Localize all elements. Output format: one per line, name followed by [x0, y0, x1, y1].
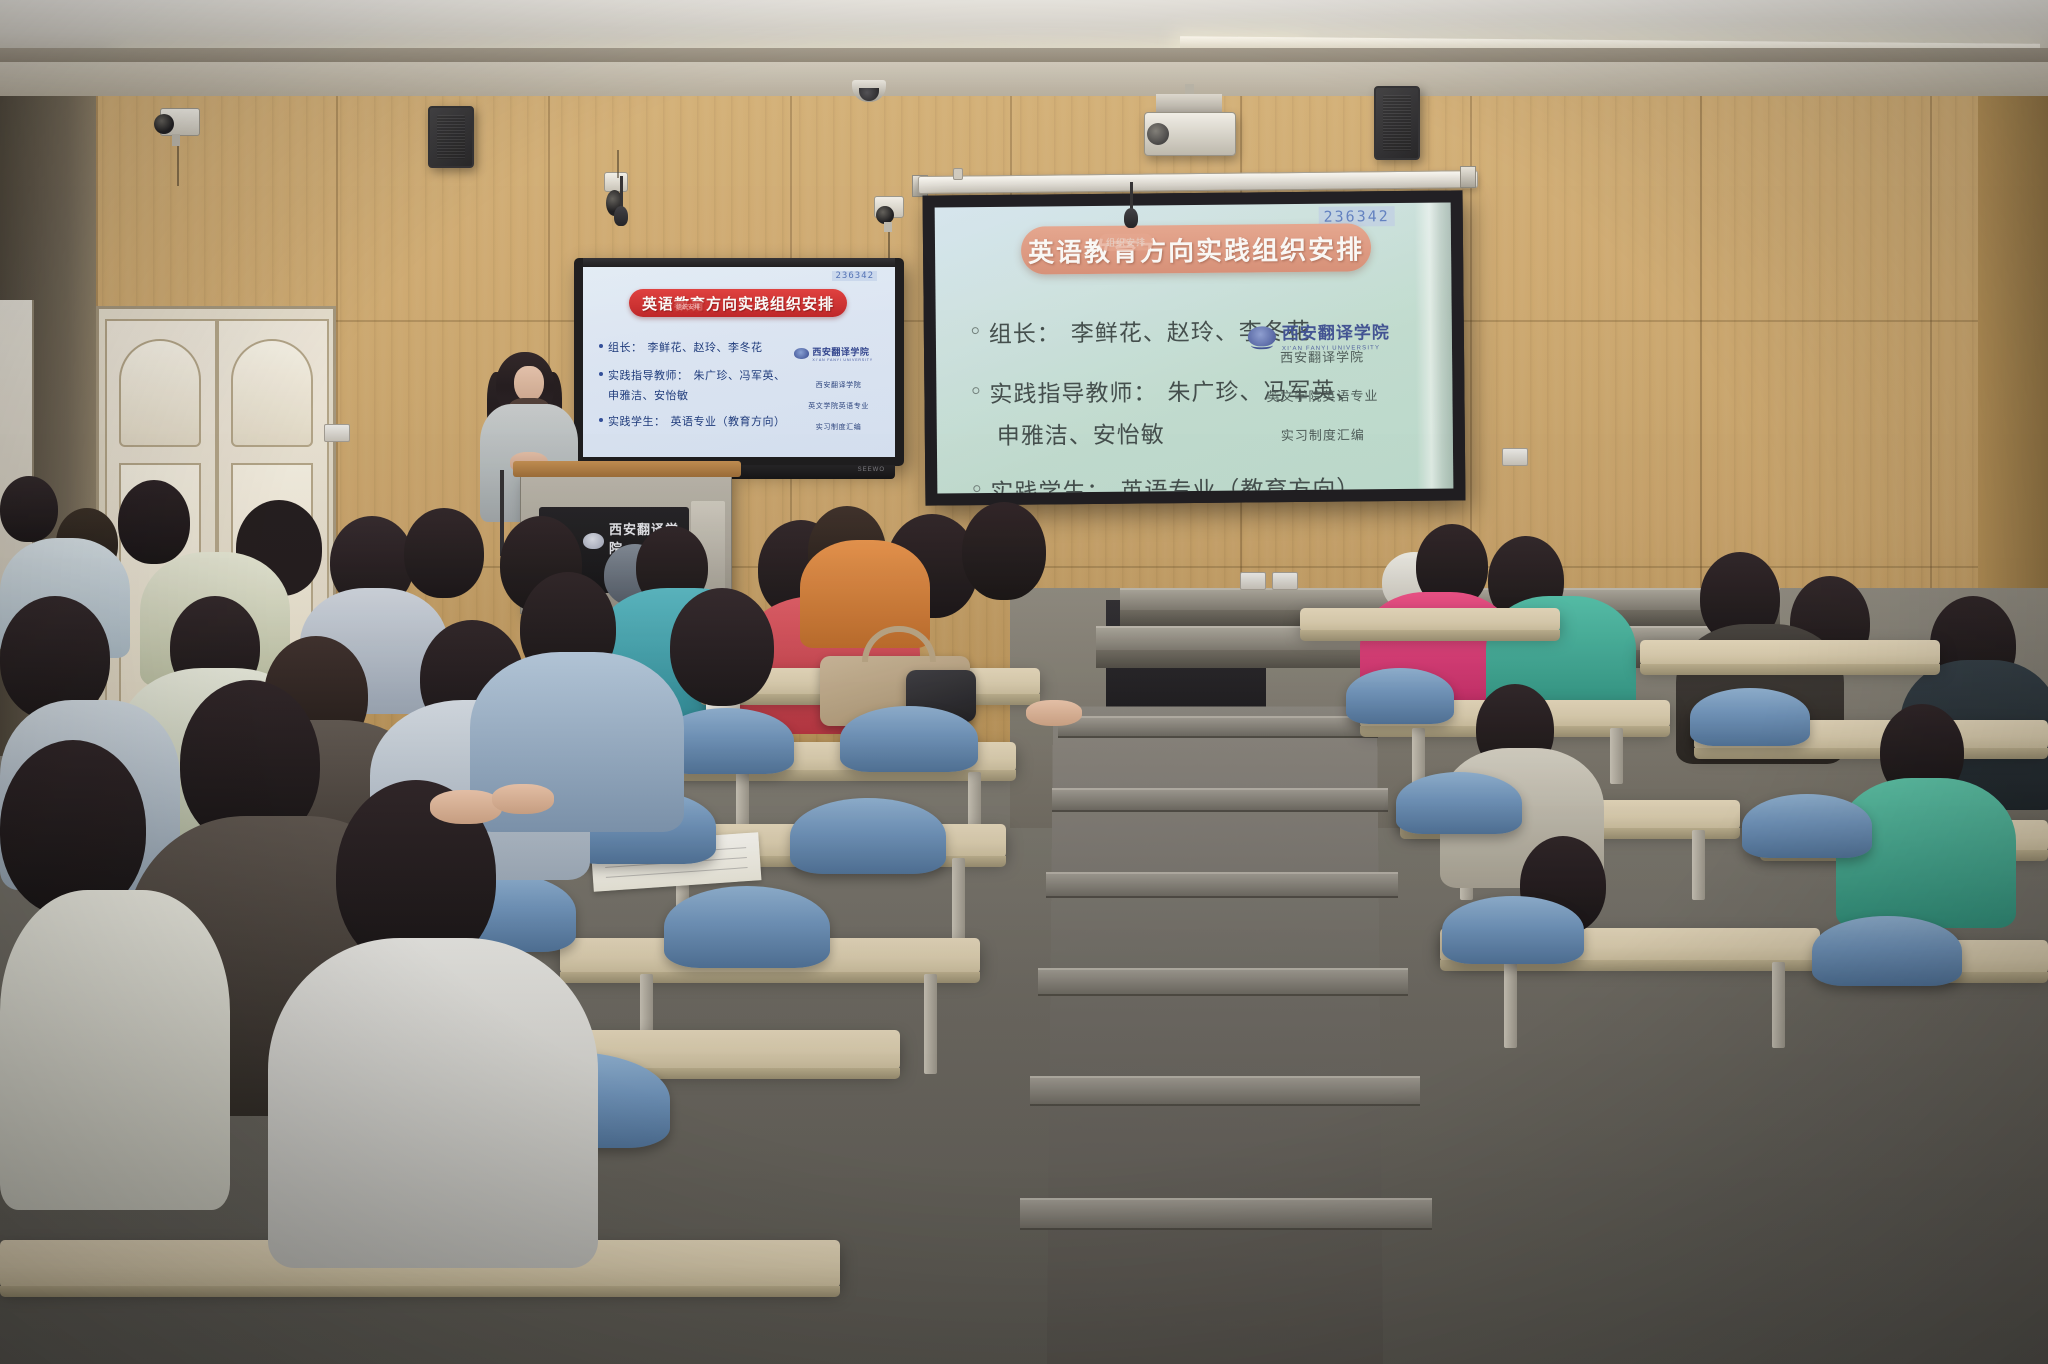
- bullet-dot-icon: [973, 485, 980, 492]
- camera-lens-icon: [154, 114, 174, 134]
- wall-socket[interactable]: [1272, 572, 1298, 590]
- hanging-microphone-icon: [614, 206, 628, 226]
- logo-name-en: XI'AN FANYI UNIVERSITY: [812, 358, 873, 362]
- lcd-footer-line: 英文学院英语专业: [808, 401, 869, 411]
- chair[interactable]: [1346, 668, 1454, 724]
- camera-mount: [172, 134, 180, 146]
- bullet-label: 组长：: [608, 339, 643, 355]
- chair[interactable]: [840, 706, 978, 772]
- camera-wire: [177, 146, 179, 186]
- chair[interactable]: [1396, 772, 1522, 834]
- presentation-slide-small: 236342 组织安排 英语教育方向实践组织安排 组长： 李鲜花、赵玲、李冬花 …: [583, 267, 895, 457]
- logo-name-cn: 西安翻译学院: [812, 345, 873, 358]
- wall-socket[interactable]: [1502, 448, 1528, 466]
- bullet-dot-icon: [972, 327, 979, 334]
- bullet-value: 朱广珍、冯军英、: [694, 367, 786, 383]
- bullet-dot-icon: [599, 372, 603, 376]
- bullet-dot-icon: [599, 344, 603, 348]
- door-arch-panel: [231, 339, 313, 447]
- chair[interactable]: [664, 886, 830, 968]
- aisle-step: [1052, 788, 1388, 812]
- lcd-slide-bullet-list: 组长： 李鲜花、赵玲、李冬花 实践指导教师： 朱广珍、冯军英、 申雅洁、安怡敏 …: [599, 339, 799, 441]
- desk-leg: [1504, 962, 1517, 1048]
- lcd-bullet-continuation: 申雅洁、安怡敏: [608, 387, 799, 403]
- camera-wire: [617, 150, 619, 178]
- bullet-dot-icon: [599, 418, 603, 422]
- student-hand: [1026, 700, 1082, 726]
- slide-footer-line: 英文学院英语专业: [1266, 385, 1378, 405]
- slide-title-badge: 组织安排: [1099, 233, 1153, 251]
- lcd-footer-line: 西安翻译学院: [808, 380, 869, 390]
- aisle-step: [1020, 1198, 1432, 1230]
- wall-lcd-display[interactable]: 236342 组织安排 英语教育方向实践组织安排 组长： 李鲜花、赵玲、李冬花 …: [574, 258, 904, 466]
- desk-leg: [1692, 830, 1705, 900]
- desk-leg: [924, 974, 937, 1074]
- lcd-slide-title-banner: 组织安排 英语教育方向实践组织安排: [629, 289, 847, 317]
- bullet-value: 英语专业（教育方向）: [671, 413, 786, 429]
- lectern-top: [513, 461, 741, 477]
- university-emblem-icon: [794, 348, 809, 359]
- aisle-step: [1046, 872, 1398, 898]
- lcd-bullet-item: 实践指导教师： 朱广珍、冯军英、: [599, 367, 799, 383]
- wall-speaker-right: [1374, 86, 1420, 160]
- projection-screen: 236342 组织安排 英语教育方向实践组织安排 组长： 李鲜花、赵玲、李冬花 …: [923, 190, 1466, 505]
- door-arch-panel: [119, 339, 201, 447]
- slide-footer-line: 西安翻译学院: [1266, 346, 1378, 366]
- slide-bullet-item: 实践学生： 英语专业（教育方向）: [973, 469, 1373, 493]
- chair[interactable]: [1742, 794, 1872, 858]
- student-body-foreground: [0, 890, 230, 1210]
- lcd-bullet-item: 组长： 李鲜花、赵玲、李冬花: [599, 339, 799, 355]
- aisle-step: [1058, 716, 1378, 738]
- lcd-bullet-item: 实践学生： 英语专业（教育方向）: [599, 413, 799, 429]
- university-emblem-icon: [1248, 326, 1276, 346]
- projector-mount: [1156, 94, 1222, 114]
- chair[interactable]: [1690, 688, 1810, 746]
- bullet-label: 实践学生：: [608, 413, 666, 429]
- slide-title-banner: 组织安排 英语教育方向实践组织安排: [1021, 223, 1371, 274]
- student-body-foreground: [268, 938, 598, 1268]
- desk: [1640, 640, 1940, 666]
- security-camera-icon: [604, 172, 628, 192]
- ceiling-projector: [1144, 112, 1236, 156]
- bullet-label: 实践指导教师：: [989, 373, 1157, 409]
- hanging-microphone-icon: [1124, 208, 1138, 228]
- slide-footer-line: 实习制度汇编: [1267, 424, 1379, 444]
- aisle-step: [1038, 968, 1408, 996]
- wall-socket[interactable]: [324, 424, 350, 442]
- lcd-slide-university-logo: 西安翻译学院 XI'AN FANYI UNIVERSITY: [794, 345, 873, 362]
- lcd-slide-footer: 西安翻译学院 英文学院英语专业 实习制度汇编: [808, 380, 869, 443]
- bullet-label: 组长：: [989, 314, 1061, 349]
- student-head: [670, 588, 774, 706]
- logo-name-cn: 西安翻译学院: [1282, 318, 1390, 344]
- lcd-top-bezel: [583, 258, 895, 267]
- bullet-dot-icon: [972, 387, 979, 394]
- wall-socket[interactable]: [1240, 572, 1266, 590]
- lcd-footer-line: 实习制度汇编: [808, 422, 869, 432]
- chair[interactable]: [1442, 896, 1584, 964]
- presenter-face: [514, 366, 544, 402]
- desk-leg: [1610, 728, 1623, 784]
- presentation-slide-large: 236342 组织安排 英语教育方向实践组织安排 组长： 李鲜花、赵玲、李冬花 …: [935, 203, 1454, 494]
- bullet-value: 李鲜花、赵玲、李冬花: [648, 339, 763, 355]
- lcd-brand-label: SEEWO: [858, 467, 885, 473]
- projector-lens-icon: [1147, 123, 1169, 145]
- chair[interactable]: [1812, 916, 1962, 986]
- student-head: [118, 480, 190, 564]
- university-emblem-icon: [583, 533, 604, 549]
- bullet-label: 实践学生：: [990, 472, 1110, 494]
- lcd-slide-title-badge: 组织安排: [671, 301, 705, 312]
- chair[interactable]: [790, 798, 946, 874]
- student-head: [962, 502, 1046, 600]
- slide-footer: 西安翻译学院 英文学院英语专业 实习制度汇编: [1266, 346, 1379, 464]
- wall-speaker-left: [428, 106, 474, 168]
- bullet-label: 实践指导教师：: [608, 367, 689, 383]
- desk: [1300, 608, 1560, 632]
- aisle-step: [1030, 1076, 1420, 1106]
- bullet-value: 英语专业（教育方向）: [1120, 469, 1360, 493]
- desk-leg: [1772, 962, 1785, 1048]
- camera-mount: [884, 222, 892, 232]
- hanging-microphone-cable: [620, 176, 623, 210]
- lecture-hall-photo: E CONTENT 236342: [0, 0, 2048, 1364]
- desk-leg: [1412, 728, 1425, 784]
- screen-roller-hook: [953, 168, 963, 180]
- student-head: [404, 508, 484, 598]
- lcd-slide-watermark: 236342: [832, 271, 877, 281]
- desk-leg: [952, 858, 965, 942]
- slide-title: 英语教育方向实践组织安排: [1028, 229, 1364, 269]
- screen-roller-end-right: [1460, 166, 1476, 188]
- student-hand: [492, 784, 554, 814]
